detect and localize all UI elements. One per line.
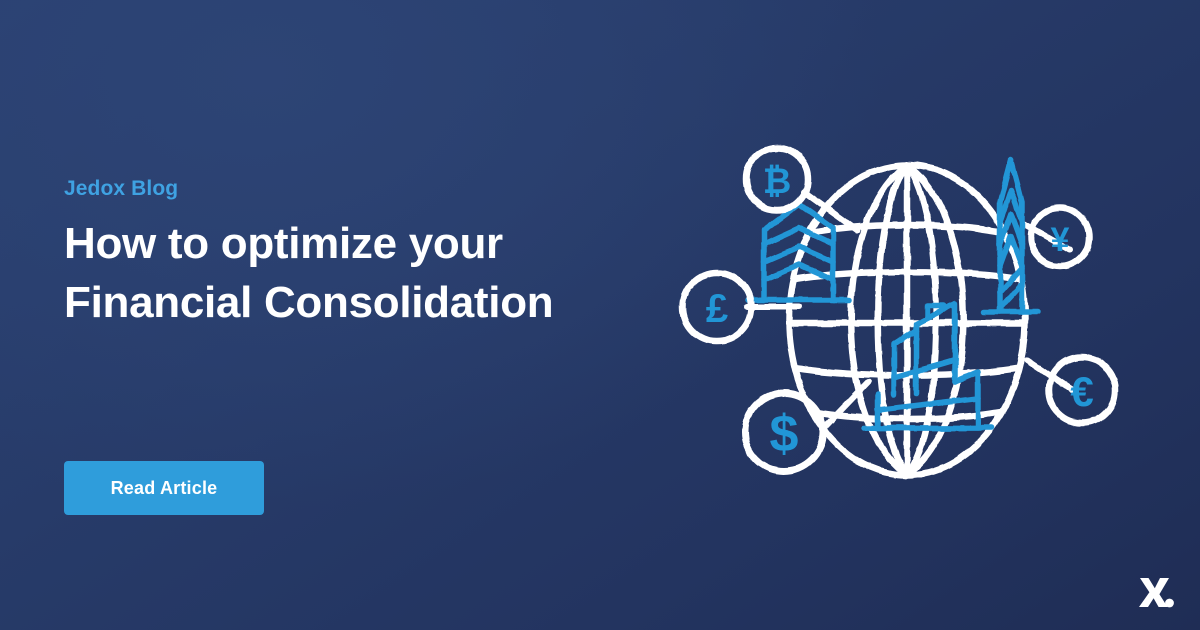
bitcoin-icon: ₿ (763, 162, 792, 201)
euro-icon: € (1070, 368, 1093, 415)
read-article-button[interactable]: Read Article (64, 461, 264, 515)
jedox-logo-svg (1134, 568, 1178, 612)
pound-badge: £ (683, 273, 751, 341)
copy-block: Jedox Blog How to optimize your Financia… (64, 176, 684, 332)
euro-badge: € (1049, 357, 1115, 423)
dollar-badge: $ (745, 393, 823, 471)
eyebrow-label: Jedox Blog (64, 176, 684, 202)
jedox-logo-mark (1139, 578, 1174, 607)
dollar-icon: $ (770, 405, 799, 463)
yen-badge: ¥ (1031, 208, 1089, 266)
globe-illustration-svg: ₿ £ $ ¥ € (672, 132, 1142, 512)
pound-icon: £ (706, 287, 728, 331)
bitcoin-badge: ₿ (746, 148, 808, 210)
jedox-logo (1134, 568, 1178, 612)
blog-promo-banner: Jedox Blog How to optimize your Financia… (0, 0, 1200, 630)
hero-illustration: ₿ £ $ ¥ € (672, 132, 1142, 512)
page-title: How to optimize your Financial Consolida… (64, 215, 684, 332)
yen-icon: ¥ (1051, 221, 1070, 259)
